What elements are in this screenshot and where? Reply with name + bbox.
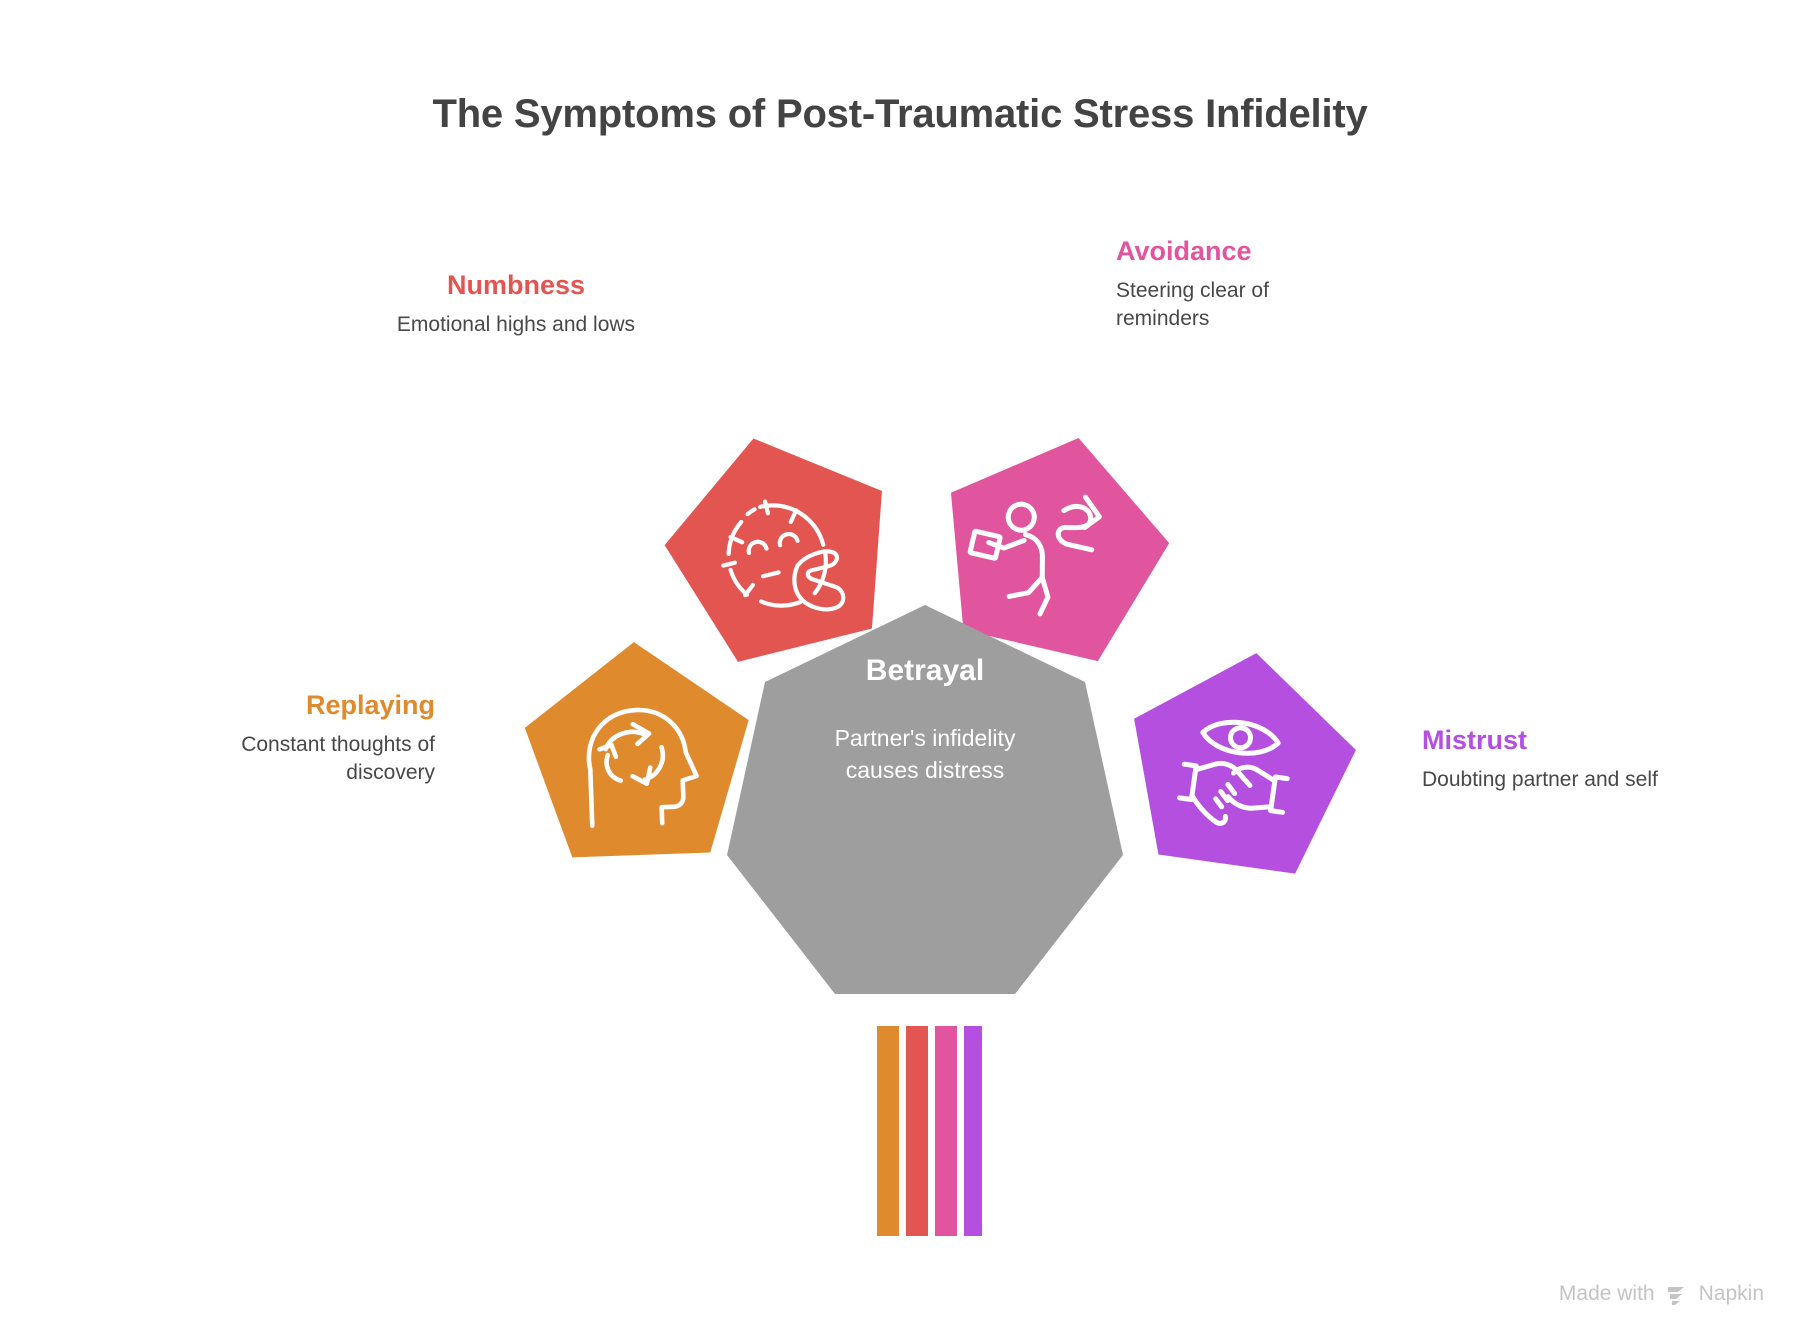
stem-bar-avoidance — [935, 1026, 957, 1236]
mistrust-pentagon-shape — [1116, 638, 1367, 880]
betrayal-description-line2: causes distress — [846, 757, 1005, 783]
stem-bar-numbness — [906, 1026, 928, 1236]
replaying-pentagon-shape — [522, 638, 753, 859]
napkin-watermark: Made with Napkin — [1559, 1282, 1764, 1306]
node-mistrust[interactable] — [1116, 638, 1367, 880]
betrayal-description-line1: Partner's infidelity — [835, 725, 1016, 751]
napkin-logo-icon — [1665, 1282, 1689, 1306]
node-replaying[interactable] — [522, 638, 753, 859]
node-betrayal[interactable]: Betrayal Partner's infidelity causes dis… — [727, 605, 1123, 994]
infographic-canvas: The Symptoms of Post-Traumatic Stress In… — [0, 0, 1800, 1342]
stem-bar-mistrust — [964, 1026, 982, 1236]
watermark-brand: Napkin — [1699, 1282, 1764, 1306]
watermark-prefix: Made with — [1559, 1282, 1655, 1306]
symptom-diagram: Betrayal Partner's infidelity causes dis… — [0, 0, 1800, 1342]
betrayal-label: Betrayal — [866, 654, 984, 687]
stem-bars — [877, 1026, 982, 1236]
stem-bar-replaying — [877, 1026, 899, 1236]
